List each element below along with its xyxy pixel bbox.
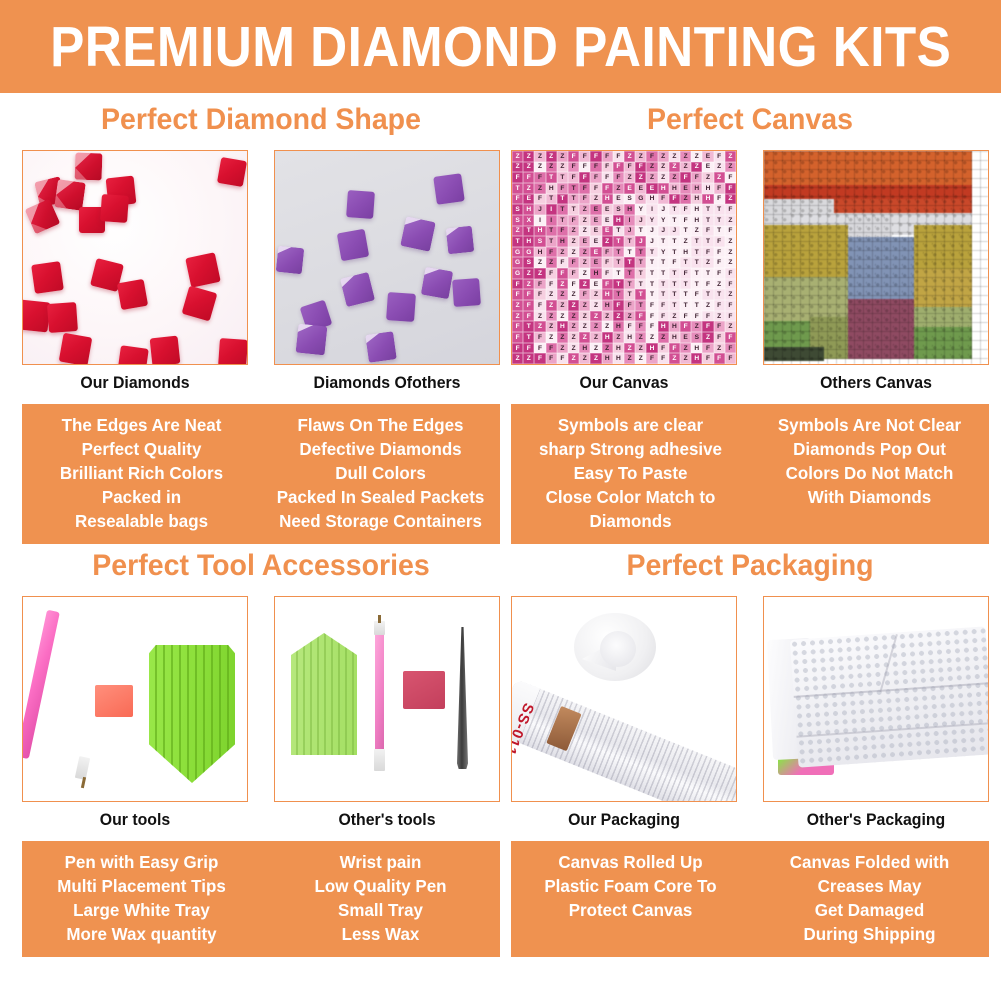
canvas-symbol-cell: F: [602, 247, 613, 258]
note-line: More Wax quantity: [28, 922, 256, 946]
canvas-symbol-cell: T: [613, 226, 624, 237]
canvas-symbol-cell: Z: [702, 300, 713, 311]
canvas-symbol-cell: S: [523, 257, 534, 268]
thumb-caption: Our Diamonds: [27, 374, 244, 393]
canvas-symbol-cell: Z: [512, 151, 523, 162]
canvas-symbol-cell: T: [691, 268, 702, 279]
canvas-symbol-cell: F: [512, 279, 523, 290]
canvas-symbol-cell: J: [646, 226, 657, 237]
notes-box: Canvas Rolled UpPlastic Foam Core ToProt…: [511, 841, 989, 957]
note-line: Plastic Foam Core To: [517, 874, 745, 898]
canvas-symbol-cell: S: [691, 332, 702, 343]
canvas-symbol-cell: J: [534, 204, 545, 215]
canvas-symbol-cell: F: [646, 311, 657, 322]
compare-cell-ours: Our Diamonds: [22, 150, 248, 393]
note-line: Diamonds Pop Out: [756, 437, 984, 461]
canvas-symbol-cell: T: [680, 226, 691, 237]
canvas-symbol-cell: Z: [546, 151, 557, 162]
canvas-symbol-cell: H: [602, 194, 613, 205]
canvas-symbol-cell: T: [624, 236, 635, 247]
note-line: Symbols are clear: [517, 413, 745, 437]
canvas-symbol-cell: T: [624, 279, 635, 290]
note-line: Perfect Quality: [28, 437, 256, 461]
canvas-symbol-cell: S: [534, 236, 545, 247]
canvas-symbol-cell: H: [691, 204, 702, 215]
wax-square: [403, 671, 445, 709]
poster-header: PREMIUM DIAMOND PAINTING KITS: [0, 0, 1001, 93]
canvas-symbol-cell: Z: [702, 257, 713, 268]
canvas-symbol-cell: T: [658, 236, 669, 247]
canvas-symbol-cell: F: [680, 172, 691, 183]
canvas-symbol-cell: T: [523, 321, 534, 332]
pen-grip: [374, 749, 385, 771]
canvas-symbol-cell: T: [669, 268, 680, 279]
note-line: Small Tray: [267, 898, 495, 922]
canvas-tube: SS-011: [511, 679, 737, 802]
canvas-symbol-cell: Z: [512, 353, 523, 364]
canvas-symbol-cell: Z: [568, 289, 579, 300]
canvas-symbol-cell: Z: [557, 162, 568, 173]
canvas-symbol-cell: F: [669, 343, 680, 354]
canvas-symbol-cell: S: [512, 204, 523, 215]
canvas-symbol-cell: T: [557, 194, 568, 205]
canvas-symbol-cell: F: [579, 289, 590, 300]
canvas-symbol-cell: F: [725, 183, 736, 194]
canvas-symbol-cell: Z: [590, 311, 601, 322]
diamond-bead: [182, 286, 218, 322]
canvas-symbol-cell: Z: [568, 247, 579, 258]
canvas-symbol-cell: F: [568, 162, 579, 173]
canvas-symbol-cell: H: [534, 226, 545, 237]
diamond-bead: [47, 302, 78, 333]
canvas-symbol-cell: S: [613, 204, 624, 215]
diamond-bead: [117, 279, 148, 310]
note-line: Protect Canvas: [517, 898, 745, 922]
canvas-symbol-cell: Z: [624, 151, 635, 162]
compare-cell-ours: Our tools: [22, 596, 248, 830]
canvas-symbol-cell: F: [725, 172, 736, 183]
canvas-symbol-cell: T: [680, 279, 691, 290]
canvas-symbol-cell: Z: [669, 162, 680, 173]
canvas-symbol-cell: H: [691, 215, 702, 226]
canvas-symbol-cell: I: [624, 215, 635, 226]
cap-inner: [600, 631, 636, 667]
canvas-symbol-cell: E: [590, 279, 601, 290]
note-line: Less Wax: [267, 922, 495, 946]
diamond-bead: [296, 324, 328, 356]
canvas-symbol-cell: F: [725, 343, 736, 354]
thumb-caption: Our Canvas: [516, 374, 733, 393]
diamond-bead: [218, 338, 248, 365]
canvas-symbol-cell: H: [702, 194, 713, 205]
note-line: Multi Placement Tips: [28, 874, 256, 898]
canvas-symbol-cell: Z: [702, 332, 713, 343]
canvas-symbol-cell: T: [613, 236, 624, 247]
canvas-symbol-cell: T: [646, 268, 657, 279]
section-canvas: Perfect Canvas ZZZZZFFFFFZZFZZZZEFZZZZZZ…: [511, 100, 989, 544]
thumb-caption: Our Packaging: [516, 811, 733, 830]
diamond-bead: [31, 261, 64, 294]
canvas-symbol-cell: F: [613, 300, 624, 311]
canvas-symbol-cell: Z: [691, 226, 702, 237]
canvas-symbol-cell: Z: [613, 332, 624, 343]
canvas-symbol-cell: G: [512, 247, 523, 258]
canvas-symbol-cell: F: [590, 151, 601, 162]
canvas-symbol-cell: H: [523, 236, 534, 247]
canvas-symbol-cell: Z: [590, 300, 601, 311]
canvas-symbol-cell: F: [590, 172, 601, 183]
canvas-symbol-cell: F: [669, 257, 680, 268]
canvas-symbol-cell: Z: [635, 343, 646, 354]
canvas-symbol-cell: H: [613, 215, 624, 226]
canvas-symbol-cell: T: [646, 289, 657, 300]
canvas-symbol-cell: T: [557, 215, 568, 226]
blurry-color-canvas-photo: [764, 151, 988, 364]
canvas-symbol-cell: F: [680, 215, 691, 226]
tweezers: [457, 627, 468, 769]
canvas-symbol-cell: T: [523, 332, 534, 343]
canvas-symbol-cell: F: [669, 194, 680, 205]
canvas-symbol-cell: Z: [534, 257, 545, 268]
canvas-symbol-cell: E: [613, 194, 624, 205]
other-packaging-image: [763, 596, 989, 802]
notes-others: Flaws On The EdgesDefective DiamondsDull…: [261, 413, 500, 533]
canvas-symbol-cell: F: [691, 311, 702, 322]
canvas-symbol-cell: Z: [646, 332, 657, 343]
note-line: Creases May: [756, 874, 984, 898]
canvas-symbol-cell: Z: [669, 311, 680, 322]
other-tools-image: [274, 596, 500, 802]
canvas-symbol-cell: Z: [658, 172, 669, 183]
note-line: Dull Colors: [267, 461, 495, 485]
canvas-symbol-cell: Z: [568, 353, 579, 364]
canvas-symbol-cell: F: [613, 151, 624, 162]
pink-symbol-canvas-photo: ZZZZZFFFFFZZFZZZZEFZZZZZZFFFFFFFZZZZZEZZ…: [512, 151, 736, 364]
canvas-symbol-cell: Z: [557, 332, 568, 343]
note-line: Defective Diamonds: [267, 437, 495, 461]
diamond-bead: [75, 153, 103, 181]
canvas-symbol-cell: Z: [725, 257, 736, 268]
others-canvas-image: [763, 150, 989, 365]
diamond-bead: [276, 246, 305, 275]
note-line: Easy To Paste: [517, 461, 745, 485]
canvas-symbol-cell: H: [613, 343, 624, 354]
canvas-symbol-cell: F: [534, 343, 545, 354]
canvas-symbol-cell: F: [702, 279, 713, 290]
canvas-symbol-cell: Z: [579, 311, 590, 322]
canvas-symbol-cell: Z: [691, 151, 702, 162]
canvas-symbol-cell: Z: [702, 172, 713, 183]
canvas-symbol-cell: H: [669, 321, 680, 332]
diamond-bead: [100, 194, 129, 223]
diamond-bead: [365, 331, 397, 363]
diamond-bead: [433, 173, 465, 205]
note-line: Colors Do Not Match: [756, 461, 984, 485]
tube-texture: [511, 679, 737, 802]
canvas-symbol-cell: G: [512, 257, 523, 268]
canvas-symbol-cell: J: [669, 226, 680, 237]
canvas-symbol-cell: Z: [635, 353, 646, 364]
notes-box: Symbols are clearsharp Strong adhesiveEa…: [511, 404, 989, 544]
canvas-symbol-cell: T: [669, 300, 680, 311]
canvas-symbol-cell: F: [714, 332, 725, 343]
section-heading: Perfect Packaging: [523, 546, 977, 586]
canvas-symbol-cell: T: [714, 289, 725, 300]
notes-others: Symbols Are Not ClearDiamonds Pop OutCol…: [750, 413, 989, 533]
canvas-symbol-cell: Z: [613, 311, 624, 322]
thumb-caption: Our tools: [27, 811, 244, 830]
canvas-symbol-cell: Z: [646, 162, 657, 173]
thumb-pair: SS-011 Our Packaging: [511, 596, 989, 830]
canvas-symbol-cell: T: [646, 257, 657, 268]
canvas-symbol-cell: F: [579, 183, 590, 194]
canvas-symbol-cell: F: [534, 300, 545, 311]
tray-ribs: [291, 633, 357, 755]
canvas-symbol-cell: T: [669, 279, 680, 290]
canvas-symbol-cell: H: [557, 236, 568, 247]
canvas-symbol-cell: T: [635, 300, 646, 311]
canvas-symbol-cell: F: [534, 353, 545, 364]
canvas-symbol-cell: F: [725, 353, 736, 364]
canvas-symbol-cell: T: [680, 300, 691, 311]
canvas-symbol-cell: Z: [624, 353, 635, 364]
diamond-bead: [340, 272, 375, 307]
canvas-symbol-cell: F: [512, 321, 523, 332]
canvas-symbol-cell: F: [680, 321, 691, 332]
canvas-symbol-cell: F: [512, 194, 523, 205]
canvas-symbol-cell: T: [624, 268, 635, 279]
canvas-symbol-cell: Z: [714, 311, 725, 322]
canvas-symbol-cell: T: [691, 279, 702, 290]
canvas-symbol-cell: H: [546, 183, 557, 194]
canvas-symbol-cell: Z: [680, 343, 691, 354]
canvas-symbol-cell: I: [546, 204, 557, 215]
canvas-symbol-cell: Z: [725, 151, 736, 162]
canvas-symbol-cell: F: [523, 311, 534, 322]
canvas-symbol-cell: T: [658, 289, 669, 300]
canvas-symbol-cell: F: [568, 257, 579, 268]
canvas-symbol-cell: T: [669, 247, 680, 258]
canvas-symbol-cell: Z: [579, 321, 590, 332]
canvas-symbol-cell: Z: [579, 215, 590, 226]
diamond-bead: [346, 190, 375, 219]
other-diamonds-image: [274, 150, 500, 365]
note-line: During Shipping: [756, 922, 984, 946]
canvas-symbol-cell: Z: [512, 162, 523, 173]
canvas-symbol-cell: T: [613, 289, 624, 300]
canvas-symbol-cell: F: [691, 289, 702, 300]
canvas-symbol-cell: Z: [669, 172, 680, 183]
canvas-symbol-cell: F: [613, 172, 624, 183]
canvas-symbol-cell: Z: [725, 162, 736, 173]
canvas-symbol-cell: Z: [590, 194, 601, 205]
canvas-symbol-cell: T: [646, 279, 657, 290]
our-tools-image: [22, 596, 248, 802]
canvas-symbol-cell: F: [702, 353, 713, 364]
canvas-symbol-cell: T: [624, 257, 635, 268]
canvas-symbol-cell: F: [568, 172, 579, 183]
canvas-symbol-cell: Z: [534, 151, 545, 162]
purple-square-diamonds-photo: [275, 151, 499, 364]
canvas-symbol-cell: J: [658, 226, 669, 237]
canvas-symbol-cell: T: [635, 289, 646, 300]
canvas-symbol-cell: Y: [658, 215, 669, 226]
canvas-symbol-cell: F: [602, 183, 613, 194]
notes-ours: Canvas Rolled UpPlastic Foam Core ToProt…: [511, 850, 750, 946]
canvas-symbol-cell: T: [680, 289, 691, 300]
canvas-symbol-cell: T: [658, 279, 669, 290]
note-line: Get Damaged: [756, 898, 984, 922]
canvas-symbol-cell: T: [669, 215, 680, 226]
canvas-symbol-cell: F: [624, 162, 635, 173]
canvas-symbol-cell: Z: [680, 194, 691, 205]
notes-ours: Symbols are clearsharp Strong adhesiveEa…: [511, 413, 750, 533]
canvas-symbol-cell: F: [658, 311, 669, 322]
canvas-symbol-cell: T: [680, 257, 691, 268]
canvas-symbol-cell: E: [680, 332, 691, 343]
canvas-symbol-cell: Z: [658, 332, 669, 343]
canvas-symbol-cell: Z: [714, 172, 725, 183]
canvas-symbol-cell: T: [546, 194, 557, 205]
canvas-symbol-cell: Z: [557, 311, 568, 322]
canvas-symbol-cell: T: [546, 236, 557, 247]
canvas-symbol-cell: H: [534, 247, 545, 258]
note-line: Packed in: [28, 485, 256, 509]
canvas-symbol-cell: F: [646, 300, 657, 311]
note-line: Resealable bags: [28, 509, 256, 533]
canvas-symbol-cell: Z: [624, 311, 635, 322]
diamond-tray: [149, 645, 235, 783]
canvas-symbol-cell: Z: [512, 226, 523, 237]
canvas-symbol-cell: Z: [568, 236, 579, 247]
canvas-symbol-cell: Z: [602, 236, 613, 247]
canvas-symbol-cell: H: [624, 332, 635, 343]
canvas-symbol-cell: T: [669, 236, 680, 247]
canvas-symbol-cell: Z: [624, 172, 635, 183]
notes-ours: The Edges Are NeatPerfect QualityBrillia…: [22, 413, 261, 533]
notes-box: The Edges Are NeatPerfect QualityBrillia…: [22, 404, 500, 544]
canvas-symbol-cell: Z: [534, 162, 545, 173]
canvas-symbol-cell: H: [602, 353, 613, 364]
note-line: Packed In Sealed Packets: [267, 485, 495, 509]
note-line: Need Storage Containers: [267, 509, 495, 533]
canvas-symbol-cell: F: [646, 151, 657, 162]
canvas-symbol-cell: E: [602, 204, 613, 215]
bubble-mailer: [790, 626, 989, 767]
canvas-symbol-cell: E: [680, 183, 691, 194]
canvas-symbol-cell: F: [725, 204, 736, 215]
canvas-symbol-cell: F: [714, 353, 725, 364]
small-tray: [291, 633, 357, 755]
diamond-pen-wax-tray-photo: [23, 597, 247, 801]
thumb-caption: Other's Packaging: [768, 811, 985, 830]
canvas-symbol-cell: F: [568, 268, 579, 279]
canvas-symbol-cell: H: [691, 343, 702, 354]
canvas-symbol-cell: Z: [546, 332, 557, 343]
canvas-symbol-cell: T: [624, 247, 635, 258]
canvas-symbol-cell: Z: [523, 151, 534, 162]
canvas-symbol-cell: F: [702, 321, 713, 332]
canvas-symbol-cell: Z: [557, 151, 568, 162]
canvas-symbol-cell: T: [613, 279, 624, 290]
diamond-bead: [185, 252, 221, 288]
canvas-symbol-cell: F: [602, 162, 613, 173]
diamond-bead: [59, 333, 93, 365]
diamond-bead: [217, 157, 247, 187]
compare-cell-others: Others Canvas: [763, 150, 989, 393]
canvas-symbol-cell: F: [523, 172, 534, 183]
section-heading: Perfect Canvas: [523, 100, 977, 140]
canvas-symbol-cell: F: [602, 279, 613, 290]
thumb-caption: Others Canvas: [768, 374, 985, 393]
canvas-symbol-cell: Z: [534, 268, 545, 279]
canvas-symbol-cell: S: [624, 194, 635, 205]
note-line: With Diamonds: [756, 485, 984, 509]
canvas-symbol-cell: F: [691, 172, 702, 183]
canvas-symbol-cell: Z: [546, 162, 557, 173]
canvas-symbol-cell: Z: [602, 321, 613, 332]
canvas-symbol-cell: T: [714, 226, 725, 237]
canvas-symbol-cell: Z: [691, 162, 702, 173]
rolled-canvas-tube-photo: SS-011: [512, 597, 736, 801]
canvas-symbol-cell: F: [534, 279, 545, 290]
canvas-symbol-cell: J: [635, 236, 646, 247]
canvas-symbol-cell: Z: [725, 321, 736, 332]
canvas-symbol-cell: E: [590, 215, 601, 226]
canvas-symbol-cell: T: [512, 236, 523, 247]
note-line: Large White Tray: [28, 898, 256, 922]
canvas-symbol-cell: F: [702, 343, 713, 354]
canvas-symbol-cell: F: [534, 289, 545, 300]
canvas-symbol-cell: F: [714, 151, 725, 162]
canvas-symbol-cell: H: [613, 353, 624, 364]
canvas-symbol-cell: H: [669, 183, 680, 194]
canvas-symbol-cell: Z: [557, 247, 568, 258]
canvas-symbol-cell: F: [546, 343, 557, 354]
canvas-symbol-cell: Z: [714, 279, 725, 290]
our-packaging-image: SS-011: [511, 596, 737, 802]
bubble-wrap-texture: [790, 626, 989, 767]
canvas-symbol-cell: F: [613, 162, 624, 173]
canvas-symbol-cell: T: [613, 268, 624, 279]
canvas-symbol-cell: Z: [568, 311, 579, 322]
thumb-pair: ZZZZZFFFFFZZFZZZZEFZZZZZZFFFFFFFZZZZZEZZ…: [511, 150, 989, 393]
canvas-symbol-cell: I: [546, 215, 557, 226]
canvas-symbol-cell: F: [523, 343, 534, 354]
canvas-symbol-cell: F: [523, 289, 534, 300]
canvas-symbol-cell: Z: [557, 289, 568, 300]
canvas-symbol-cell: T: [635, 226, 646, 237]
canvas-symbol-cell: T: [557, 204, 568, 215]
section-tools: Perfect Tool Accessories: [22, 546, 500, 957]
canvas-symbol-cell: Z: [546, 300, 557, 311]
canvas-symbol-cell: H: [646, 343, 657, 354]
canvas-symbol-cell: Z: [579, 300, 590, 311]
canvas-symbol-cell: T: [691, 300, 702, 311]
canvas-symbol-cell: T: [568, 183, 579, 194]
poster-root: PREMIUM DIAMOND PAINTING KITS Perfect Di…: [0, 0, 1001, 1001]
canvas-symbol-cell: E: [523, 194, 534, 205]
canvas-symbol-cell: F: [624, 321, 635, 332]
note-line: Close Color Match to: [517, 485, 745, 509]
canvas-symbol-cell: Z: [579, 247, 590, 258]
canvas-symbol-cell: Z: [579, 332, 590, 343]
canvas-symbol-cell: Z: [568, 300, 579, 311]
canvas-symbol-cell: F: [512, 343, 523, 354]
canvas-symbol-cell: Z: [714, 343, 725, 354]
canvas-symbol-cell: E: [590, 236, 601, 247]
section-packaging: Perfect Packaging SS-011: [511, 546, 989, 957]
